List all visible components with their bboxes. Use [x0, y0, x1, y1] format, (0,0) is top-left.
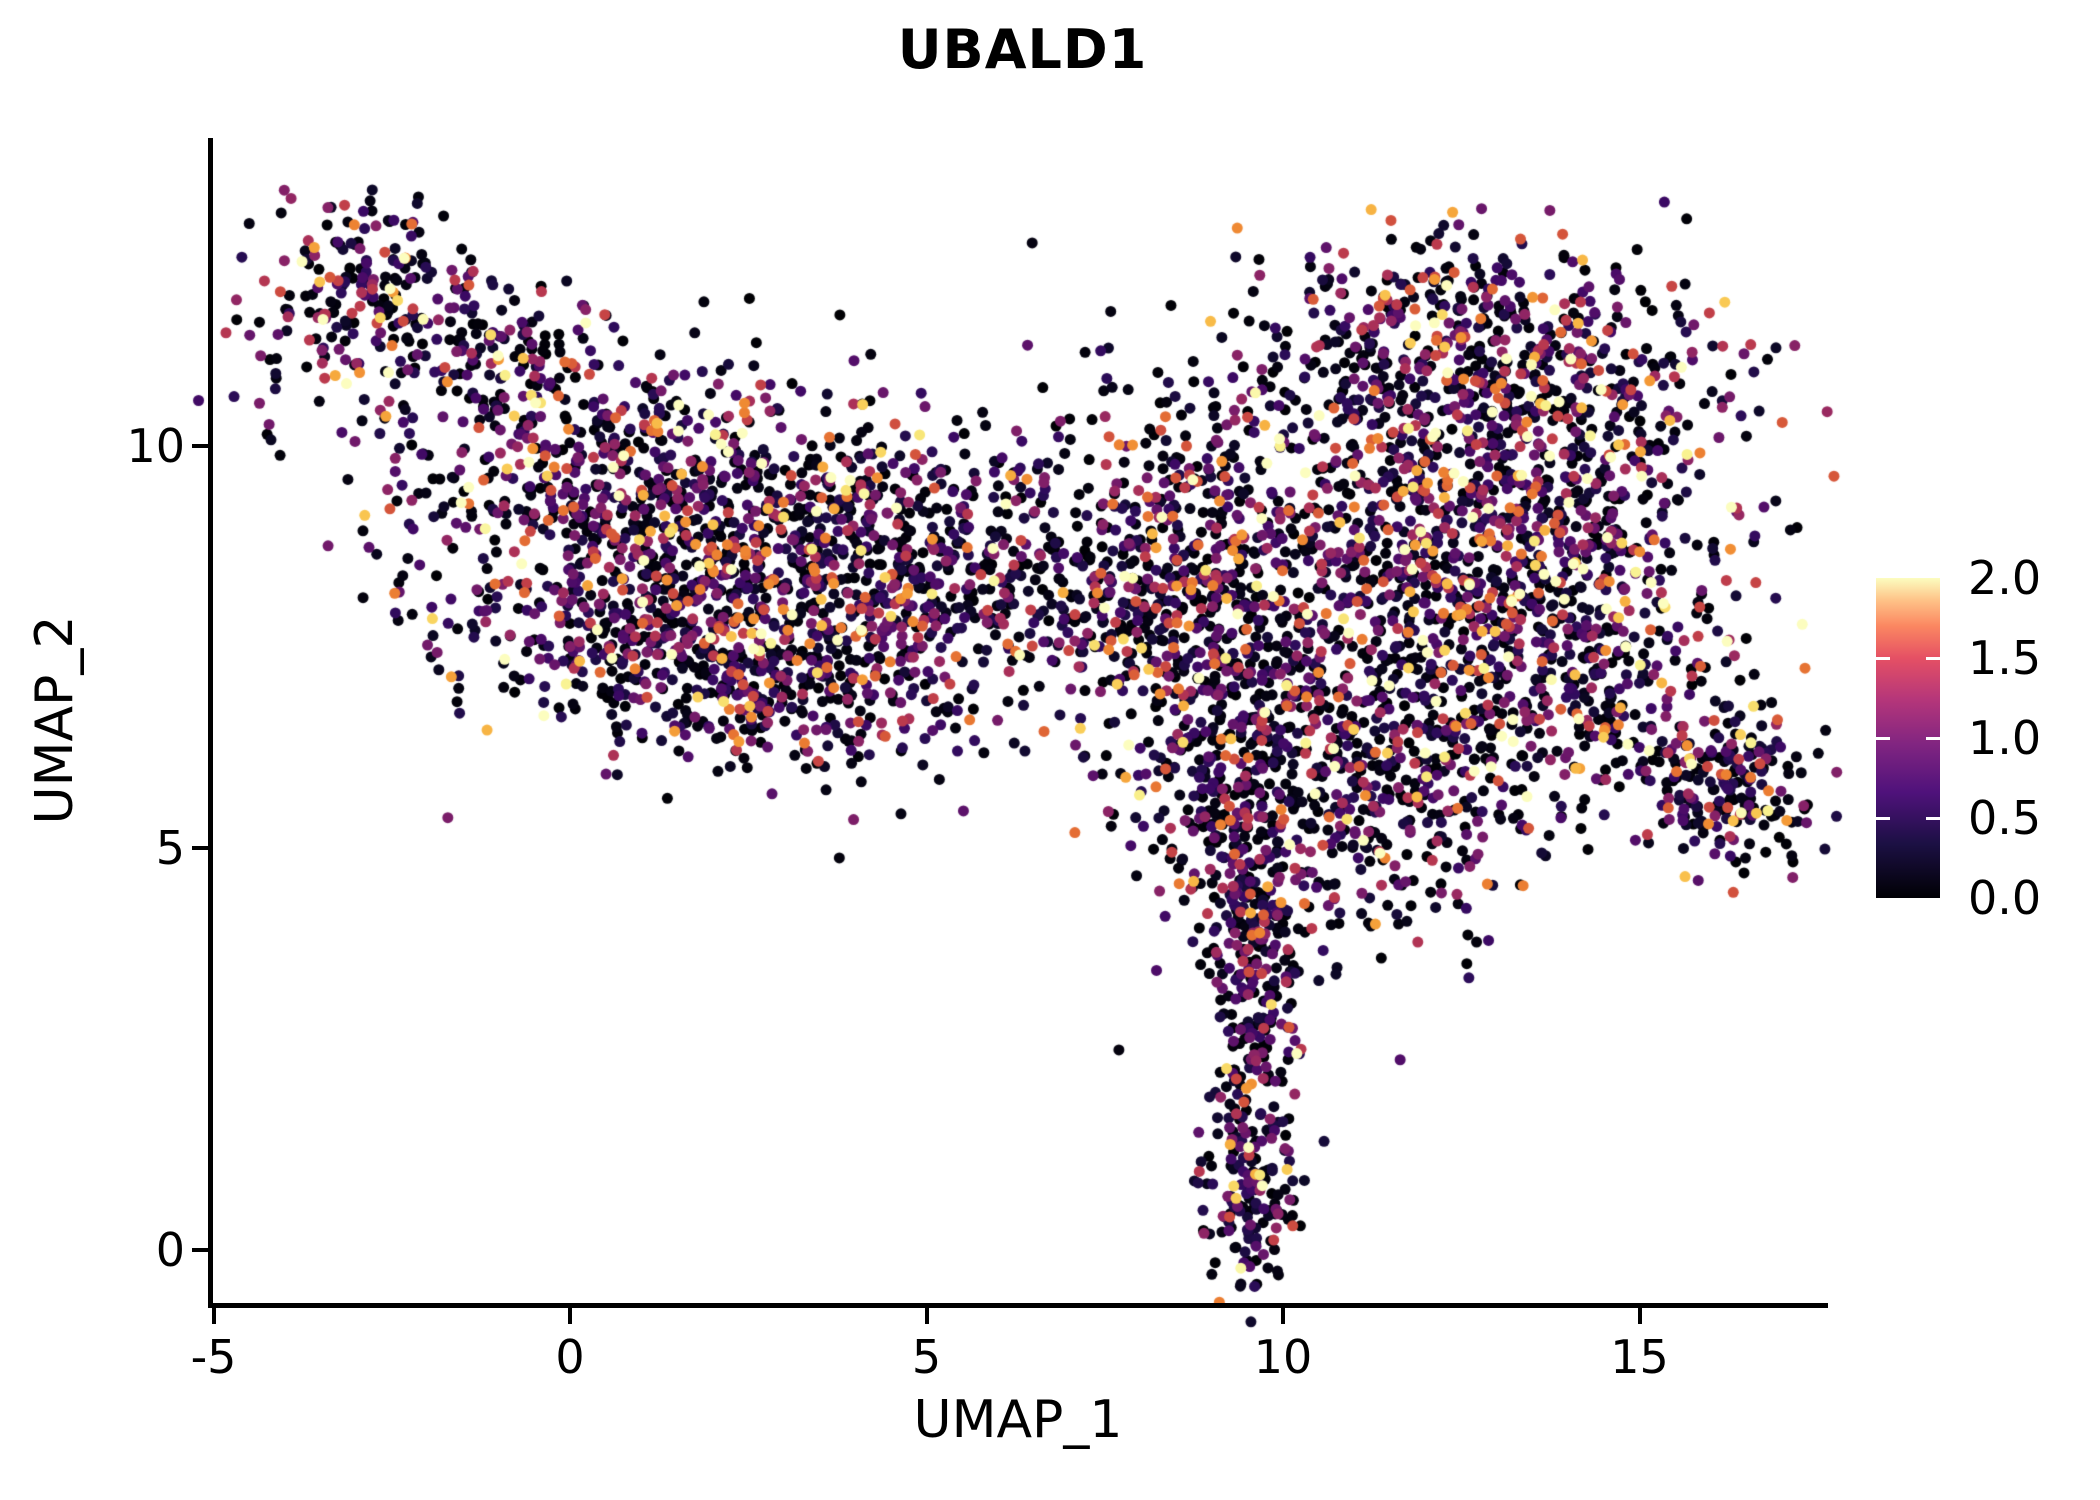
scatter-plot-area	[0, 0, 2100, 1500]
colorbar-tick-mark	[1876, 737, 1890, 740]
colorbar-tick-mark	[1876, 657, 1890, 660]
colorbar-tick-label: 0.0	[1968, 871, 2041, 925]
x-axis-label: UMAP_1	[208, 1390, 1828, 1450]
x-tick-mark	[925, 1308, 929, 1324]
x-tick-label: 5	[912, 1330, 941, 1384]
scatter-canvas	[0, 0, 2100, 1500]
y-tick-mark	[192, 846, 208, 850]
x-tick-mark	[1638, 1308, 1642, 1324]
y-tick-mark	[192, 1248, 208, 1252]
umap-feature-plot: UBALD1 0510-5051015 UMAP_1 UMAP_2 0.00.5…	[0, 0, 2100, 1500]
colorbar-tick-label: 2.0	[1968, 551, 2041, 605]
x-tick-mark	[1281, 1308, 1285, 1324]
x-axis-spine	[208, 1303, 1828, 1308]
colorbar-tick-mark	[1926, 737, 1940, 740]
y-axis-spine	[208, 138, 213, 1308]
colorbar-tick-label: 1.5	[1968, 631, 2041, 685]
y-tick-label: 10	[126, 419, 185, 473]
colorbar-tick-label: 0.5	[1968, 791, 2041, 845]
colorbar-tick-mark	[1926, 817, 1940, 820]
x-tick-label: 10	[1254, 1330, 1313, 1384]
colorbar-tick-mark	[1926, 657, 1940, 660]
y-axis-label: UMAP_2	[25, 390, 85, 1050]
colorbar-tick-label: 1.0	[1968, 711, 2041, 765]
colorbar-tick-mark	[1876, 817, 1890, 820]
x-tick-mark	[568, 1308, 572, 1324]
y-tick-label: 5	[156, 821, 185, 875]
y-tick-mark	[192, 444, 208, 448]
x-tick-mark	[212, 1308, 216, 1324]
y-tick-label: 0	[156, 1223, 185, 1277]
x-tick-label: 15	[1610, 1330, 1669, 1384]
x-tick-label: 0	[555, 1330, 584, 1384]
x-tick-label: -5	[191, 1330, 237, 1384]
